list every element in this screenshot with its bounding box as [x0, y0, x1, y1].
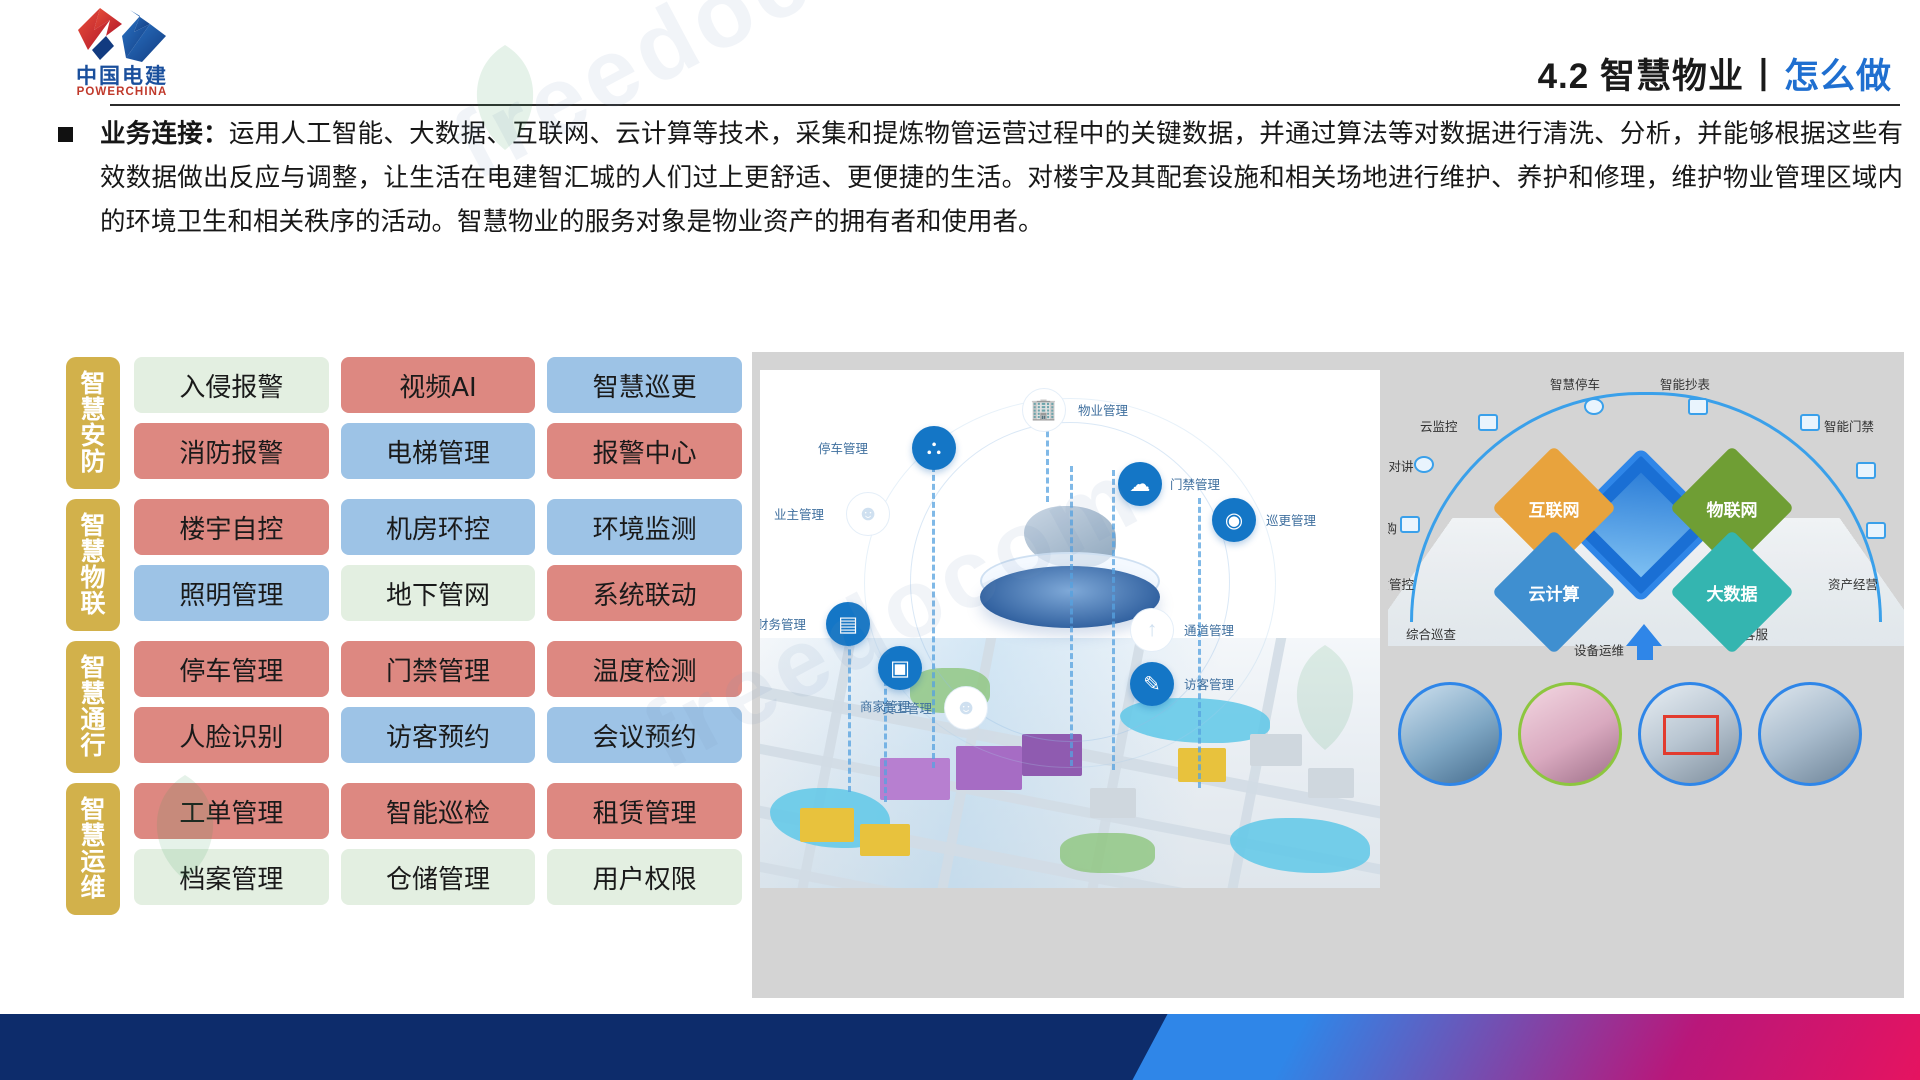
node-visitor-icon: ✎: [1130, 662, 1174, 706]
matrix-group-pill[interactable]: 智慧通行: [66, 641, 120, 773]
matrix-tile[interactable]: 智能巡检: [341, 783, 536, 839]
matrix-tile[interactable]: 档案管理: [134, 849, 329, 905]
node-label-staff: 员工管理: [882, 698, 932, 717]
page-title-index: 4.2: [1538, 57, 1590, 96]
matrix-group-pill[interactable]: 智慧运维: [66, 783, 120, 915]
smart-city-network-diagram: 智慧停车 智能抄表 云监控 云对讲 云购 品质管控 智能门禁 资产经营 综合巡查…: [1388, 352, 1904, 998]
matrix-tile[interactable]: 楼宇自控: [134, 499, 329, 555]
label-meter-reading: 智能抄表: [1660, 374, 1710, 393]
matrix-row: 照明管理地下管网系统联动: [134, 565, 742, 621]
matrix-group-label-cell: 智慧物联: [62, 499, 124, 631]
matrix-tile[interactable]: 入侵报警: [134, 357, 329, 413]
matrix-group-label-cell: 智慧通行: [62, 641, 124, 773]
page-title: 4.2 智慧物业丨怎么做: [1538, 48, 1892, 99]
matrix-group-label-char: 联: [80, 591, 105, 617]
smart-property-hub-diagram: ⛬ 停车管理 🏢 物业管理 ☻ 业主管理 ☁ 门禁管理 ◉ 巡更管理 ▤ 财务管…: [760, 370, 1380, 888]
label-asset-operation: 资产经营: [1828, 574, 1878, 593]
matrix-tile[interactable]: 租赁管理: [547, 783, 742, 839]
matrix-tile[interactable]: 门禁管理: [341, 641, 536, 697]
matrix-tile[interactable]: 电梯管理: [341, 423, 536, 479]
matrix-group-pill[interactable]: 智慧物联: [66, 499, 120, 631]
matrix-group: 智慧物联楼宇自控机房环控环境监测照明管理地下管网系统联动: [62, 499, 742, 631]
node-staff-icon: ☻: [944, 686, 988, 730]
matrix-group-label-char: 通: [80, 707, 105, 733]
bullet-square-icon: [58, 127, 73, 142]
matrix-row: 入侵报警视频AI智慧巡更: [134, 357, 742, 413]
matrix-group-tiles: 入侵报警视频AI智慧巡更消防报警电梯管理报警中心: [134, 357, 742, 489]
footer-band-navy: [0, 1014, 1196, 1080]
matrix-group-label-char: 慧: [80, 397, 105, 423]
chip-quality-icon: [1866, 522, 1886, 539]
matrix-group-label-char: 防: [80, 449, 105, 475]
matrix-group: 智慧通行停车管理门禁管理温度检测人脸识别访客预约会议预约: [62, 641, 742, 773]
photo-map-red-box: [1638, 682, 1742, 786]
photo-touchscreen: [1518, 682, 1622, 786]
matrix-tile[interactable]: 工单管理: [134, 783, 329, 839]
matrix-tile[interactable]: 访客预约: [341, 707, 536, 763]
label-comprehensive-patrol: 综合巡查: [1406, 624, 1456, 643]
powerchina-logo: 中国电建 POWERCHINA: [62, 6, 182, 106]
node-owner-icon: ☻: [846, 492, 890, 536]
photo-intercom: [1398, 682, 1502, 786]
page-title-divider: 丨: [1744, 57, 1784, 96]
label-smart-door: 智能门禁: [1824, 416, 1874, 435]
node-channel-icon: ↑: [1130, 608, 1174, 652]
chip-cloud-monitor-icon: [1478, 414, 1498, 431]
node-parking-icon: ⛬: [912, 426, 956, 470]
matrix-group-label-char: 维: [80, 875, 105, 901]
matrix-tile[interactable]: 温度检测: [547, 641, 742, 697]
node-patrol-icon: ◉: [1212, 498, 1256, 542]
matrix-tile[interactable]: 视频AI: [341, 357, 536, 413]
matrix-group-pill[interactable]: 智慧安防: [66, 357, 120, 489]
node-finance-icon: ▤: [826, 602, 870, 646]
matrix-group-label-char: 慧: [80, 681, 105, 707]
chip-asset-icon: [1856, 462, 1876, 479]
matrix-group-label-cell: 智慧运维: [62, 783, 124, 915]
matrix-group-label-char: 运: [80, 849, 105, 875]
chip-smart-door-icon: [1800, 414, 1820, 431]
diamond-label-cloud-computing: 云计算: [1529, 580, 1580, 605]
powerchina-logo-mark: [70, 6, 174, 64]
label-cloud-monitor: 云监控: [1420, 416, 1458, 435]
label-equipment-ops: 设备运维: [1574, 640, 1624, 659]
matrix-group-tiles: 停车管理门禁管理温度检测人脸识别访客预约会议预约: [134, 641, 742, 773]
node-access-icon: ☁: [1118, 462, 1162, 506]
matrix-tile[interactable]: 人脸识别: [134, 707, 329, 763]
matrix-tile[interactable]: 用户权限: [547, 849, 742, 905]
matrix-group-tiles: 工单管理智能巡检租赁管理档案管理仓储管理用户权限: [134, 783, 742, 915]
node-label-visitor: 访客管理: [1184, 674, 1234, 693]
intro-paragraph-text: 运用人工智能、大数据、互联网、云计算等技术，采集和提炼物管运营过程中的关键数据，…: [100, 119, 1903, 237]
matrix-group-label-char: 行: [80, 733, 105, 759]
node-label-channel: 通道管理: [1184, 620, 1234, 639]
matrix-tile[interactable]: 系统联动: [547, 565, 742, 621]
header-divider: [110, 104, 1900, 106]
matrix-group-label-char: 智: [80, 797, 105, 823]
diamond-label-iot: 物联网: [1707, 496, 1758, 521]
chip-cloud-buy-icon: [1400, 516, 1420, 533]
intro-paragraph-colon: ：: [203, 119, 229, 149]
node-label-owner: 业主管理: [774, 504, 824, 523]
matrix-group-label-cell: 智慧安防: [62, 357, 124, 489]
matrix-tile[interactable]: 地下管网: [341, 565, 536, 621]
matrix-group: 智慧运维工单管理智能巡检租赁管理档案管理仓储管理用户权限: [62, 783, 742, 915]
matrix-tile[interactable]: 报警中心: [547, 423, 742, 479]
label-cloud-buy: 云购: [1388, 518, 1397, 537]
node-property-icon: 🏢: [1022, 388, 1066, 432]
diamond-label-internet: 互联网: [1529, 496, 1580, 521]
matrix-tile[interactable]: 仓储管理: [341, 849, 536, 905]
matrix-row: 停车管理门禁管理温度检测: [134, 641, 742, 697]
chip-cloud-intercom-icon: [1414, 456, 1434, 473]
matrix-row: 工单管理智能巡检租赁管理: [134, 783, 742, 839]
matrix-row: 人脸识别访客预约会议预约: [134, 707, 742, 763]
up-arrow-icon: [1626, 624, 1662, 646]
matrix-row: 消防报警电梯管理报警中心: [134, 423, 742, 479]
matrix-tile[interactable]: 消防报警: [134, 423, 329, 479]
node-label-parking: 停车管理: [818, 438, 868, 457]
node-label-finance: 财务管理: [760, 614, 806, 633]
matrix-tile[interactable]: 智慧巡更: [547, 357, 742, 413]
label-cloud-intercom: 云对讲: [1388, 456, 1414, 475]
logo-text-en: POWERCHINA: [62, 86, 182, 98]
matrix-group-label-char: 慧: [80, 823, 105, 849]
node-merchant-icon: ▣: [878, 646, 922, 690]
page-title-main: 智慧物业: [1600, 57, 1744, 96]
matrix-group-tiles: 楼宇自控机房环控环境监测照明管理地下管网系统联动: [134, 499, 742, 631]
chip-smart-parking-icon: [1584, 398, 1604, 415]
matrix-tile[interactable]: 机房环控: [341, 499, 536, 555]
page-header: 中国电建 POWERCHINA 4.2 智慧物业丨怎么做: [0, 0, 1920, 110]
diamond-label-big-data: 大数据: [1707, 580, 1758, 605]
label-smart-parking: 智慧停车: [1550, 374, 1600, 393]
matrix-tile[interactable]: 环境监测: [547, 499, 742, 555]
intro-paragraph-block: 业务连接：运用人工智能、大数据、互联网、云计算等技术，采集和提炼物管运营过程中的…: [58, 112, 1903, 244]
capability-matrix: 智慧安防入侵报警视频AI智慧巡更消防报警电梯管理报警中心智慧物联楼宇自控机房环控…: [62, 357, 742, 925]
matrix-tile[interactable]: 照明管理: [134, 565, 329, 621]
matrix-group-label-char: 智: [80, 655, 105, 681]
illustration-panel: ⛬ 停车管理 🏢 物业管理 ☻ 业主管理 ☁ 门禁管理 ◉ 巡更管理 ▤ 财务管…: [752, 352, 1904, 998]
node-label-property: 物业管理: [1078, 400, 1128, 419]
matrix-group-label-char: 智: [80, 513, 105, 539]
matrix-group: 智慧安防入侵报警视频AI智慧巡更消防报警电梯管理报警中心: [62, 357, 742, 489]
intro-paragraph: 业务连接：运用人工智能、大数据、互联网、云计算等技术，采集和提炼物管运营过程中的…: [100, 112, 1903, 244]
footer-accent-2: [1272, 1014, 1920, 1080]
intro-paragraph-label: 业务连接: [100, 119, 203, 149]
up-arrow-stem: [1637, 644, 1653, 660]
matrix-tile[interactable]: 停车管理: [134, 641, 329, 697]
node-label-access: 门禁管理: [1170, 474, 1220, 493]
matrix-group-label-char: 慧: [80, 539, 105, 565]
matrix-group-label-char: 安: [80, 423, 105, 449]
node-label-patrol: 巡更管理: [1266, 510, 1316, 529]
matrix-row: 楼宇自控机房环控环境监测: [134, 499, 742, 555]
matrix-tile[interactable]: 会议预约: [547, 707, 742, 763]
chip-meter-reading-icon: [1688, 398, 1708, 415]
page-title-accent: 怎么做: [1784, 57, 1892, 96]
matrix-row: 档案管理仓储管理用户权限: [134, 849, 742, 905]
label-quality-control: 品质管控: [1388, 574, 1414, 593]
matrix-group-label-char: 智: [80, 371, 105, 397]
matrix-group-label-char: 物: [80, 565, 105, 591]
photo-residence: [1758, 682, 1862, 786]
